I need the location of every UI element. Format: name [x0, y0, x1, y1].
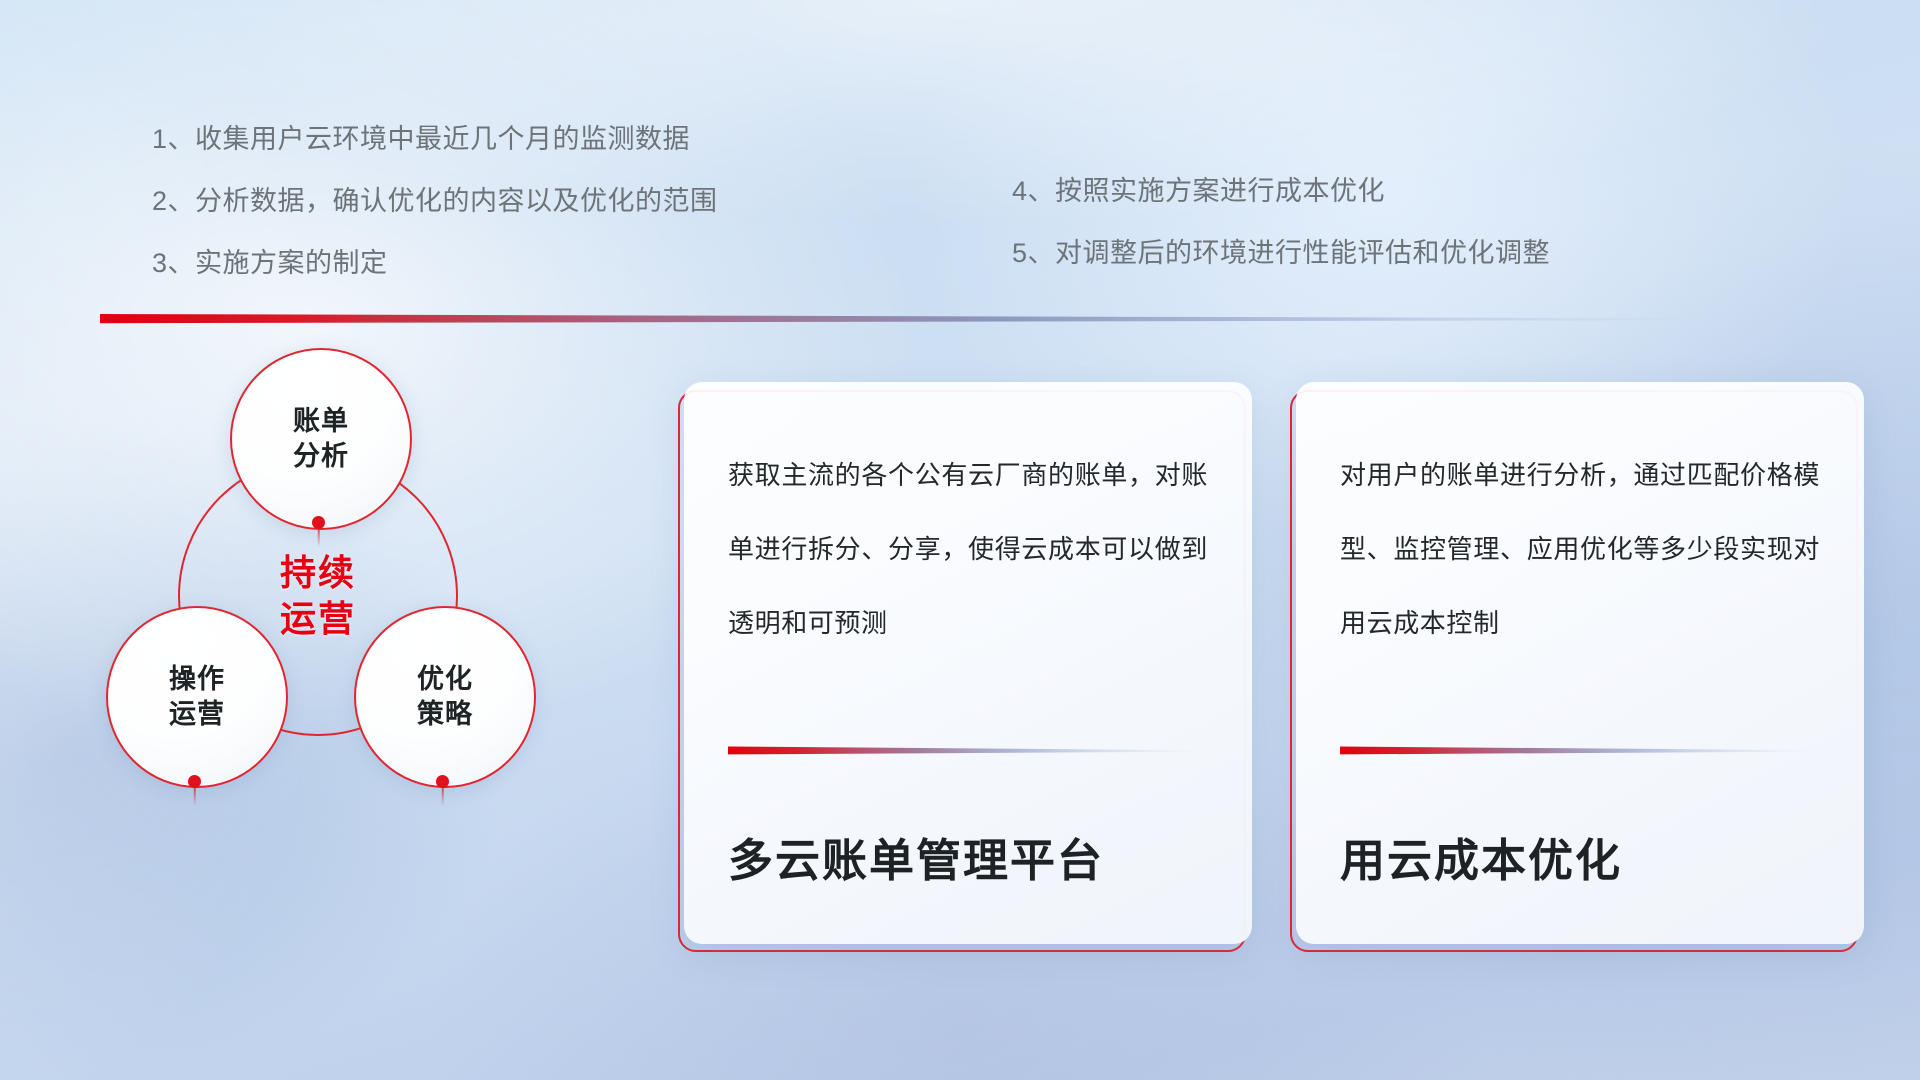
card-description: 对用户的账单进行分析，通过匹配价格模型、监控管理、应用优化等多少段实现对用云成本…: [1340, 438, 1820, 734]
diagram-node-dot-right: [436, 775, 449, 788]
continuous-operation-diagram: 账单 分析 操作 运营 优化 策略 持续 运营: [96, 348, 636, 948]
card-body: 对用户的账单进行分析，通过匹配价格模型、监控管理、应用优化等多少段实现对用云成本…: [1296, 382, 1864, 944]
diagram-center-label: 持续 运营: [178, 456, 458, 736]
bullet-column-left: 1、收集用户云环境中最近几个月的监测数据 2、分析数据，确认优化的内容以及优化的…: [152, 108, 1012, 294]
bullet-item: 1、收集用户云环境中最近几个月的监测数据: [152, 108, 1012, 170]
card-title: 用云成本优化: [1340, 834, 1820, 888]
slide-canvas: 1、收集用户云环境中最近几个月的监测数据 2、分析数据，确认优化的内容以及优化的…: [0, 0, 1920, 1080]
bullet-item: 5、对调整后的环境进行性能评估和优化调整: [1012, 222, 1772, 284]
center-label-line2: 运营: [280, 598, 356, 639]
bullet-column-right: 4、按照实施方案进行成本优化 5、对调整后的环境进行性能评估和优化调整: [1012, 108, 1772, 294]
bullet-item: 2、分析数据，确认优化的内容以及优化的范围: [152, 170, 1012, 232]
card-body: 获取主流的各个公有云厂商的账单，对账单进行拆分、分享，使得云成本可以做到透明和可…: [684, 382, 1252, 944]
lobe-label-line1: 账单: [293, 406, 349, 436]
card-divider-taper-icon: [1340, 745, 1816, 757]
diagram-node-dot-top: [312, 516, 325, 529]
card-divider-taper-icon: [728, 745, 1204, 757]
divider-taper-icon: [100, 312, 1720, 328]
bullet-item: 3、实施方案的制定: [152, 232, 1012, 294]
section-divider: [100, 312, 1720, 328]
feature-card-cloud-cost-optimization[interactable]: 对用户的账单进行分析，通过匹配价格模型、监控管理、应用优化等多少段实现对用云成本…: [1296, 382, 1864, 944]
card-divider: [1340, 744, 1816, 756]
card-title: 多云账单管理平台: [728, 834, 1208, 888]
card-divider: [728, 744, 1204, 756]
center-label-line1: 持续: [280, 552, 356, 593]
diagram-node-dot-left: [188, 775, 201, 788]
feature-card-multicloud-billing[interactable]: 获取主流的各个公有云厂商的账单，对账单进行拆分、分享，使得云成本可以做到透明和可…: [684, 382, 1252, 944]
bullet-item: 4、按照实施方案进行成本优化: [1012, 160, 1772, 222]
card-description: 获取主流的各个公有云厂商的账单，对账单进行拆分、分享，使得云成本可以做到透明和可…: [728, 438, 1208, 734]
bullet-lists: 1、收集用户云环境中最近几个月的监测数据 2、分析数据，确认优化的内容以及优化的…: [152, 108, 1792, 294]
center-label-text: 持续 运营: [280, 550, 356, 642]
